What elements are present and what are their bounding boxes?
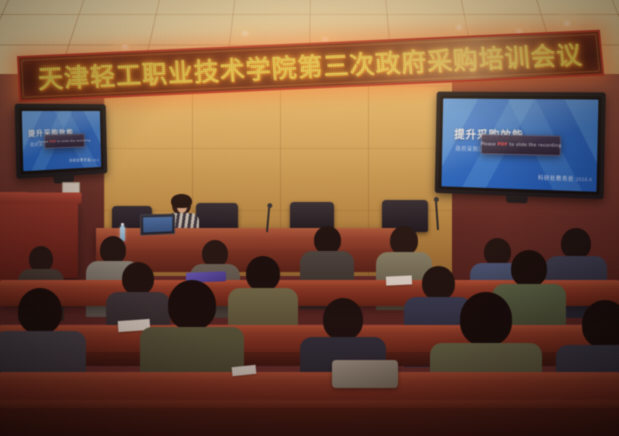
audience-desk-row-3-top xyxy=(0,372,619,381)
audience-person-r3-4-head xyxy=(460,292,512,346)
projection-screen-right: 提升采购效能 政府采购法规与操作实务 Please PDF to slide t… xyxy=(435,92,606,200)
speaker-podium-top xyxy=(0,192,82,204)
slide-date-right: 2016.4 xyxy=(576,178,592,184)
dialog-suffix-right: to slide the recording xyxy=(508,142,562,148)
audience-person-r1-3-head xyxy=(202,240,228,267)
presenter-hair xyxy=(171,194,192,208)
dialog-prefix-right: Please xyxy=(481,142,498,147)
audience-person-r1-2-head xyxy=(100,236,126,264)
slide-dialog-text-right: Please PDF to slide the recording xyxy=(481,142,562,149)
presenter-laptop xyxy=(140,214,175,236)
downlight-4 xyxy=(452,24,466,31)
audience-person-r3-2-head xyxy=(168,280,216,330)
screen-panel-right: 提升采购效能 政府采购法规与操作实务 Please PDF to slide t… xyxy=(441,98,598,191)
foreground-desk-row xyxy=(0,404,619,436)
audience-person-r1-5-head xyxy=(390,226,418,255)
slide-footer-right: 科研处教务处 xyxy=(538,174,574,183)
audience-person-r3-1-head xyxy=(18,288,62,334)
foreground-desk-top xyxy=(0,400,619,408)
audience-person-r3-3-head xyxy=(323,298,363,340)
downlight-2 xyxy=(238,30,252,37)
projection-screen-left: 提升采购效能 政府采购法规与操作实务 Please PDF to slide t… xyxy=(15,104,108,179)
slide-dialog-left: Please PDF to slide the recording xyxy=(44,134,85,149)
audience-person-r2-2-head xyxy=(246,256,280,291)
downlight-6 xyxy=(560,20,574,27)
downlight-1 xyxy=(118,44,132,51)
slide-date-left: 2016.4 xyxy=(88,158,99,162)
slide-dialog-text-left: Please PDF to slide the recording xyxy=(38,138,91,144)
dialog-prefix-left: Please xyxy=(38,139,50,143)
slide-dialog-right: Please PDF to slide the recording xyxy=(481,134,561,156)
desk-bag-r3 xyxy=(332,360,398,388)
audience-person-r1-4-head xyxy=(314,226,341,254)
audience-person-r3-5-head xyxy=(582,300,619,348)
conference-room-photo: 天津轻工职业技术学院第三次政府采购培训会议 提升采购效能 政府采购法规与操作实务… xyxy=(0,0,619,436)
laptop-screen xyxy=(143,217,172,233)
audience-person-r2-4-head xyxy=(511,250,547,287)
screen-panel-left: 提升采购效能 政府采购法规与操作实务 Please PDF to slide t… xyxy=(22,111,101,171)
screen-stand-right xyxy=(506,196,528,204)
dialog-accent-right: PDF xyxy=(497,142,508,147)
